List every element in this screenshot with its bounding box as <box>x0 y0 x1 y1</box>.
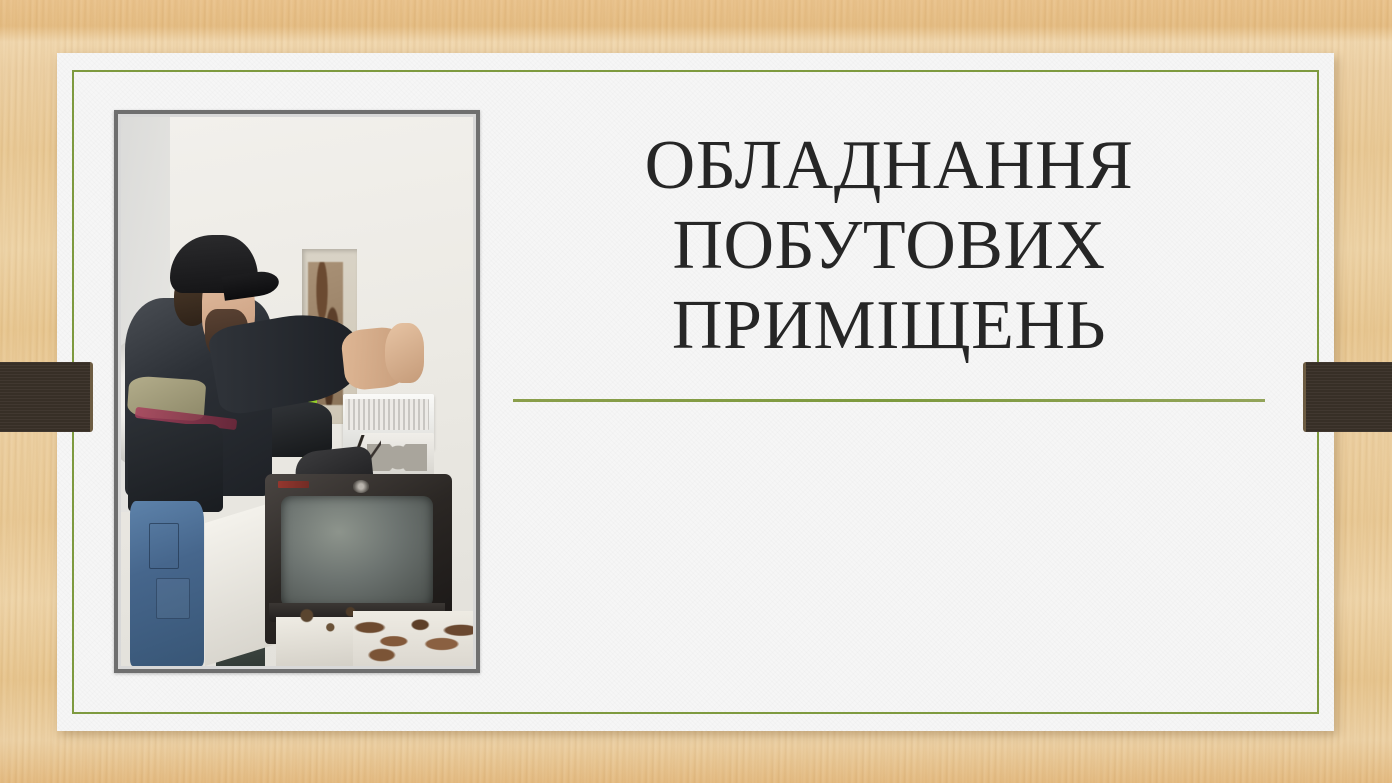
photo-tv-logo <box>353 480 369 492</box>
photo-worker-hand <box>385 323 424 383</box>
photo-jeans-cargo-pocket <box>156 578 190 618</box>
slide-card: ОБЛАДНАННЯ ПОБУТОВИХ ПРИМІЩЕНЬ <box>57 53 1334 731</box>
picture-worker-installing-sockets <box>121 117 473 666</box>
right-ribbon <box>1303 362 1392 432</box>
photo-tv-brand-text <box>278 481 310 488</box>
left-ribbon <box>0 362 93 432</box>
photo-tv-screen <box>281 496 432 609</box>
picture-frame-inner-bevel <box>118 114 476 669</box>
page-title: ОБЛАДНАННЯ ПОБУТОВИХ ПРИМІЩЕНЬ <box>513 126 1265 365</box>
photo-jeans-pocket <box>149 523 179 569</box>
title-block: ОБЛАДНАННЯ ПОБУТОВИХ ПРИМІЩЕНЬ <box>513 126 1265 365</box>
photo-socket-terminals <box>345 399 429 430</box>
slide-stage: ОБЛАДНАННЯ ПОБУТОВИХ ПРИМІЩЕНЬ <box>0 0 1392 783</box>
picture-frame[interactable] <box>114 110 480 673</box>
photo-worker-torso <box>128 424 223 512</box>
title-underline <box>513 399 1265 402</box>
photo-rubble <box>353 611 473 666</box>
